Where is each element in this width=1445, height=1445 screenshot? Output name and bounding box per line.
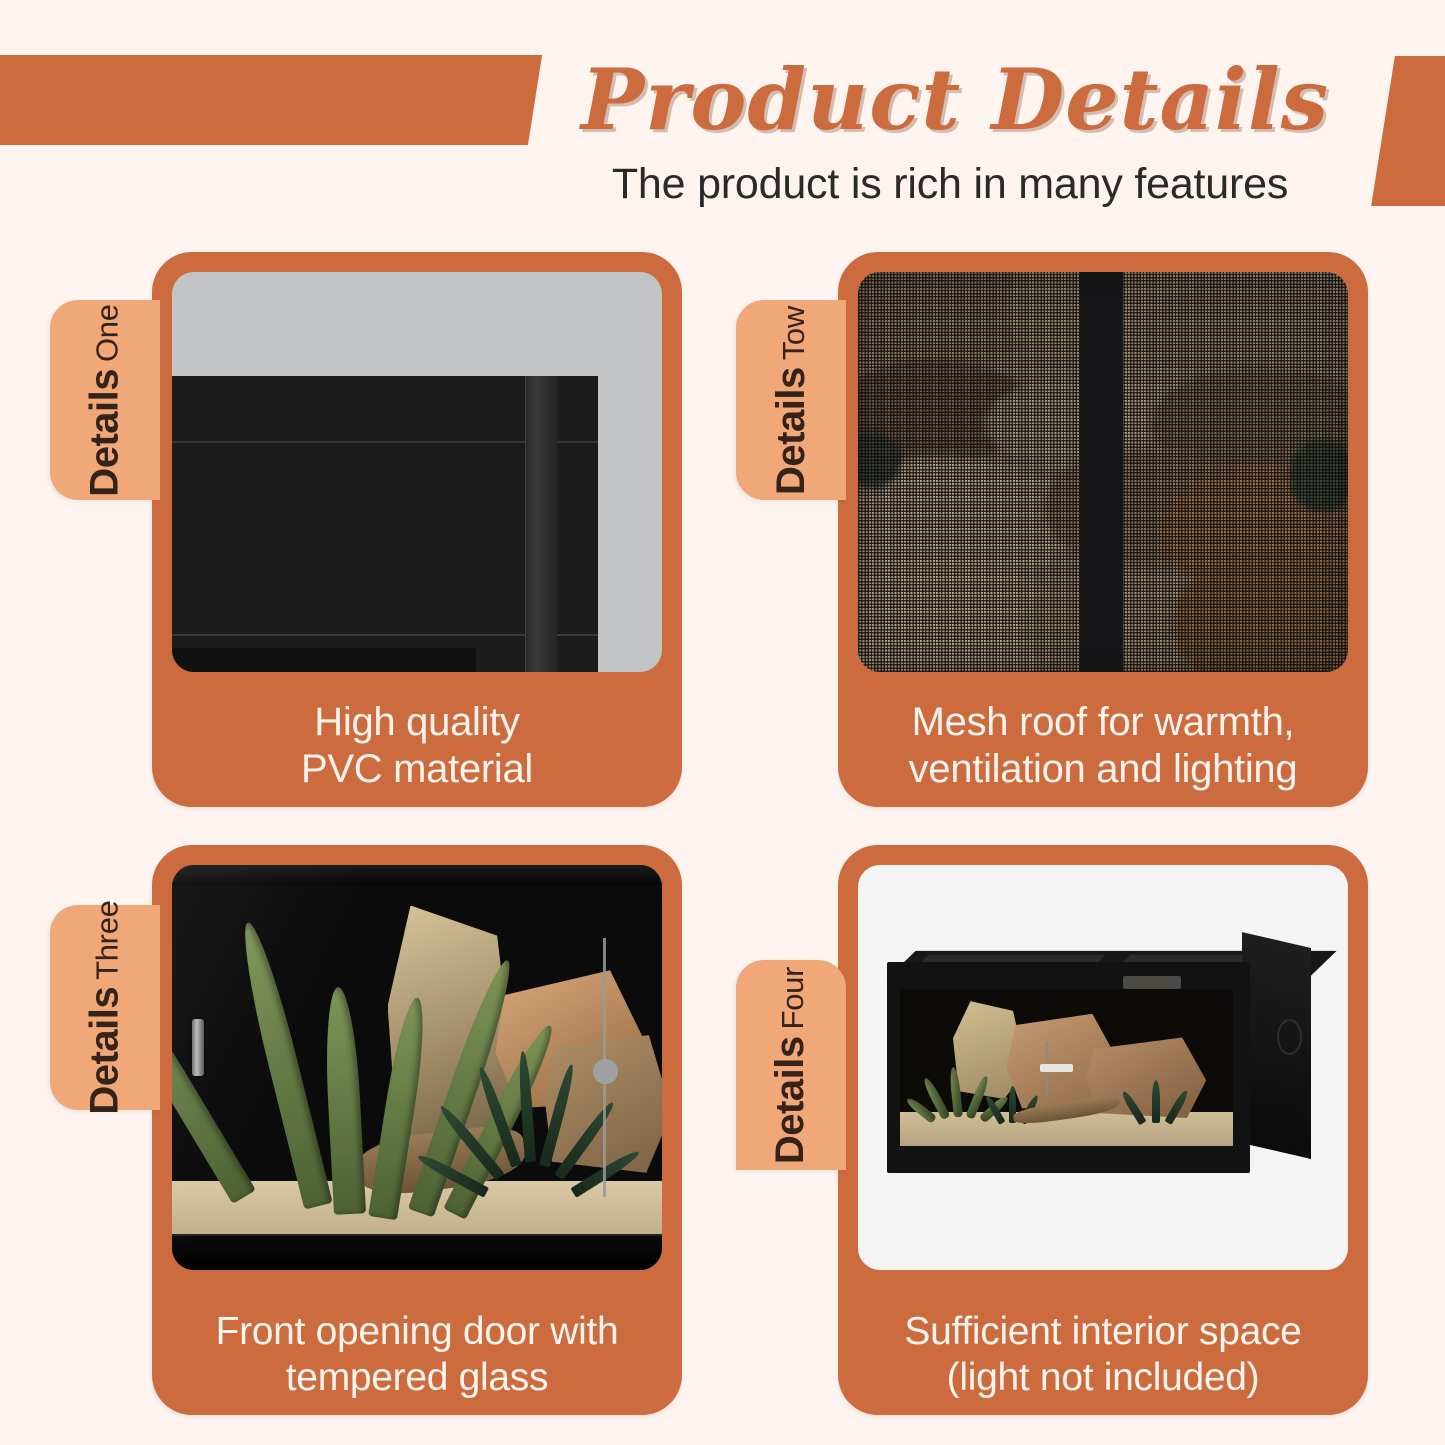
tank-succulent-right — [1133, 1080, 1180, 1127]
tab-word-details: Details — [83, 369, 128, 497]
tab-word-number: Four — [776, 966, 812, 1029]
detail-card-four-caption: Sufficient interior space (light not inc… — [854, 1309, 1352, 1401]
tank-product-scene — [858, 865, 1348, 1270]
caption-line-2: PVC material — [168, 746, 666, 793]
aloe-leaf — [234, 919, 333, 1209]
caption-line-2: tempered glass — [168, 1355, 666, 1401]
mesh-scene — [858, 272, 1348, 672]
front-door-image — [172, 865, 662, 1270]
detail-card-three-caption: Front opening door with tempered glass — [168, 1309, 666, 1401]
tank-light-fixture — [1040, 1064, 1073, 1072]
header-accent-bar-left — [0, 55, 542, 145]
tank-aloe-plant — [926, 1067, 993, 1121]
terrarium-interior-scene — [172, 865, 662, 1270]
door-top-frame — [172, 865, 662, 885]
details-tab-four-label: Details Four — [769, 966, 814, 1163]
door-bottom-frame — [172, 1234, 662, 1270]
caption-line-1: High quality — [168, 699, 666, 746]
brand-logo — [1123, 976, 1182, 989]
header-accent-bar-right — [1371, 56, 1445, 206]
caption-line-1: Front opening door with — [168, 1309, 666, 1355]
tab-word-details: Details — [83, 987, 128, 1115]
detail-card-two-caption: Mesh roof for warmth, ventilation and li… — [854, 699, 1352, 793]
details-tab-one-label: Details One — [83, 304, 128, 496]
pvc-material-image — [172, 272, 662, 672]
details-tab-three-label: Details Three — [83, 900, 128, 1114]
probe-clamp — [593, 1059, 618, 1083]
page-title: Product Details — [540, 58, 1370, 142]
details-tab-one[interactable]: Details One — [50, 300, 160, 500]
page-header: Product Details The product is rich in m… — [0, 0, 1445, 235]
aloe-leaf — [322, 986, 366, 1214]
detail-card-one[interactable]: High quality PVC material — [152, 252, 682, 807]
tab-word-number: Three — [90, 900, 126, 979]
caption-line-1: Sufficient interior space — [854, 1309, 1352, 1355]
caption-line-2: (light not included) — [854, 1355, 1352, 1401]
tank-glass-interior — [900, 989, 1233, 1147]
mesh-vignette — [858, 272, 1348, 672]
detail-card-four[interactable]: Sufficient interior space (light not inc… — [838, 845, 1368, 1415]
detail-card-three[interactable]: Front opening door with tempered glass — [152, 845, 682, 1415]
mesh-roof-image — [858, 272, 1348, 672]
pvc-corner-post — [525, 376, 557, 672]
tab-word-number: Tow — [776, 306, 812, 360]
details-tab-two[interactable]: Details Tow — [736, 300, 846, 500]
details-tab-three[interactable]: Details Three — [50, 905, 160, 1110]
pvc-scene — [172, 272, 662, 672]
tab-word-number: One — [90, 304, 126, 362]
detail-card-one-caption: High quality PVC material — [168, 699, 666, 793]
full-tank-image — [858, 865, 1348, 1270]
tab-word-details: Details — [769, 367, 814, 495]
aloe-leaf — [172, 961, 256, 1204]
door-handle[interactable] — [192, 1019, 205, 1076]
detail-card-two[interactable]: Mesh roof for warmth, ventilation and li… — [838, 252, 1368, 807]
caption-line-2: ventilation and lighting — [854, 746, 1352, 793]
pvc-bottom-ledge — [172, 648, 476, 672]
page-subtitle: The product is rich in many features — [520, 160, 1380, 209]
caption-line-1: Mesh roof for warmth, — [854, 699, 1352, 746]
haworthia-succulent — [476, 1051, 594, 1205]
tab-word-details: Details — [769, 1036, 814, 1164]
details-tab-two-label: Details Tow — [769, 306, 814, 495]
details-tab-four[interactable]: Details Four — [736, 960, 846, 1170]
